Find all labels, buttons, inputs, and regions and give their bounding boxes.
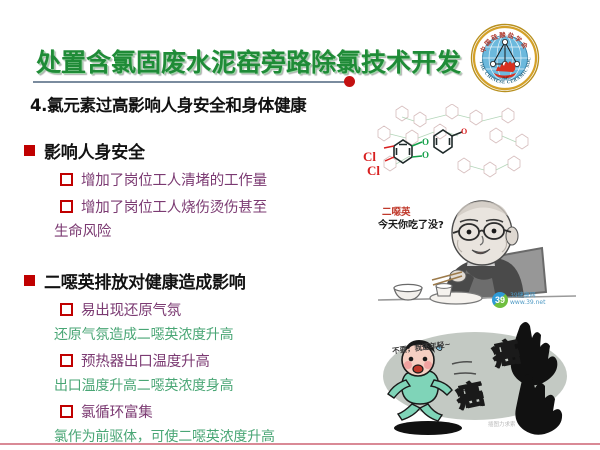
footer-divider (0, 443, 600, 445)
section-subtitle: 4.氯元素过高影响人身安全和身体健康 (30, 92, 306, 116)
section-1-heading: 影响人身安全 (44, 138, 145, 163)
cartoon-credit: 插图力求索 (488, 420, 516, 428)
filled-square-bullet-icon (24, 145, 35, 156)
the-chinese-ceramic-society-logo: 中国硅酸盐学会 THE CHINESE CERAMIC SOCIETY 1945 (470, 23, 540, 93)
watermark-badge: 39 (492, 292, 508, 308)
hollow-square-bullet-icon (60, 303, 73, 316)
hollow-square-bullet-icon (60, 173, 73, 186)
section-2-item-1: 易出现还原气氛 (60, 299, 275, 320)
svg-text:1945: 1945 (501, 76, 509, 81)
hollow-square-bullet-icon (60, 200, 73, 213)
section-1-item-2-continuation: 生命风险 (54, 220, 267, 241)
section-2-item-2: 预热器出口温度升高 (60, 350, 275, 371)
section-1-item-2: 增加了岗位工人烧伤烫伤甚至 (60, 196, 267, 217)
watermark-line-2: www.39.net (510, 300, 545, 307)
watermark-39health: 39 39健康网 www.39.net (492, 292, 545, 308)
section-2-item-1-label: 易出现还原气氛 (81, 299, 181, 320)
hollow-square-bullet-icon (60, 354, 73, 367)
page-title: 处置含氯固废水泥窑旁路除氯技术开发 (36, 43, 461, 79)
content-section-2: 二噁英排放对健康造成影响 易出现还原气氛 还原气氛造成二噁英浓度升高 预热器出口… (24, 268, 275, 446)
hollow-square-bullet-icon (60, 405, 73, 418)
section-2-item-3-label: 氯循环富集 (81, 401, 153, 422)
title-accent-dot (344, 76, 355, 87)
section-2-item-3: 氯循环富集 (60, 401, 275, 422)
section-1-item-2-label: 增加了岗位工人烧伤烫伤甚至 (81, 196, 267, 217)
section-2-heading: 二噁英排放对健康造成影响 (44, 268, 246, 293)
title-divider (33, 81, 347, 83)
dioxin-chemical-structures: O O O Cl Cl (358, 104, 558, 192)
svg-text:O: O (422, 150, 429, 160)
running-from-cancer-cartoon: 不要，我还年轻~ 癌 癌 插图力求索 (370, 318, 585, 438)
svg-text:O: O (461, 127, 467, 136)
slide-canvas: 处置含氯固废水泥窑旁路除氯技术开发 4.氯元素过高影响人身安全和身体健康 (0, 0, 600, 450)
section-1-item-1: 增加了岗位工人清堵的工作量 (60, 169, 267, 190)
svg-text:O: O (422, 137, 429, 147)
section-2-item-1-note: 还原气氛造成二噁英浓度升高 (54, 324, 275, 344)
old-man-eating-cartoon: 二噁英 今天你吃了没? 39 39健康网 www.39.net (370, 196, 585, 314)
section-2-heading-row: 二噁英排放对健康造成影响 (24, 268, 275, 293)
section-2-item-2-note: 出口温度升高二噁英浓度身高 (54, 375, 275, 395)
content-section-1: 影响人身安全 增加了岗位工人清堵的工作量 增加了岗位工人烧伤烫伤甚至 生命风险 (24, 138, 267, 241)
section-2-item-2-label: 预热器出口温度升高 (81, 350, 210, 371)
section-1-heading-row: 影响人身安全 (24, 138, 267, 163)
chlorine-label-2: Cl (367, 163, 380, 179)
cartoon-caption-question: 今天你吃了没? (378, 216, 444, 231)
section-1-item-1-label: 增加了岗位工人清堵的工作量 (81, 169, 267, 190)
filled-square-bullet-icon (24, 275, 35, 286)
